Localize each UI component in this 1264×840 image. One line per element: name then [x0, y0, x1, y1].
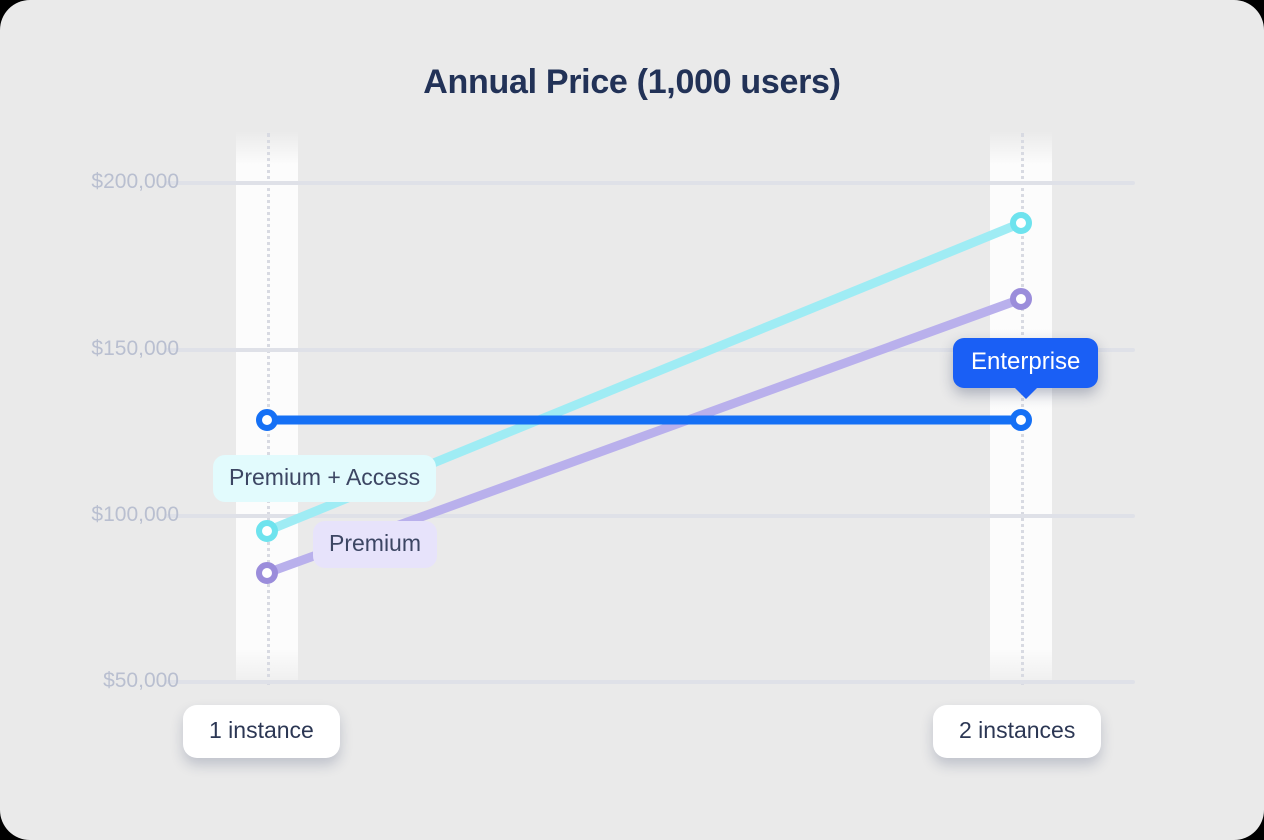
- gridline-50000: [165, 680, 1135, 684]
- plot-area: $200,000 $150,000 $100,000 $50,000 Premi…: [0, 0, 1264, 840]
- tooltip-tail-icon: [1014, 387, 1038, 399]
- data-point-enterprise-2-instances[interactable]: [1010, 409, 1032, 431]
- y-axis-tick-200000: $200,000: [91, 170, 179, 194]
- chart-card: Annual Price (1,000 users) $200,000 $150…: [0, 0, 1264, 840]
- data-point-enterprise-1-instance[interactable]: [256, 409, 278, 431]
- x-axis-label-1-instance[interactable]: 1 instance: [183, 705, 340, 758]
- series-label-premium[interactable]: Premium: [313, 521, 437, 568]
- gridline-100000: [165, 514, 1135, 518]
- y-axis-tick-50000: $50,000: [103, 669, 179, 693]
- tooltip-enterprise[interactable]: Enterprise: [953, 338, 1098, 388]
- x-axis-label-2-instances[interactable]: 2 instances: [933, 705, 1101, 758]
- tooltip-enterprise-label: Enterprise: [971, 348, 1080, 375]
- data-point-premium-1-instance[interactable]: [256, 562, 278, 584]
- data-point-premium-access-1-instance[interactable]: [256, 520, 278, 542]
- data-point-premium-access-2-instances[interactable]: [1010, 212, 1032, 234]
- series-label-premium-access[interactable]: Premium + Access: [213, 455, 436, 502]
- data-point-premium-2-instances[interactable]: [1010, 288, 1032, 310]
- gridline-200000: [165, 181, 1135, 185]
- y-axis-tick-100000: $100,000: [91, 503, 179, 527]
- y-axis-tick-150000: $150,000: [91, 337, 179, 361]
